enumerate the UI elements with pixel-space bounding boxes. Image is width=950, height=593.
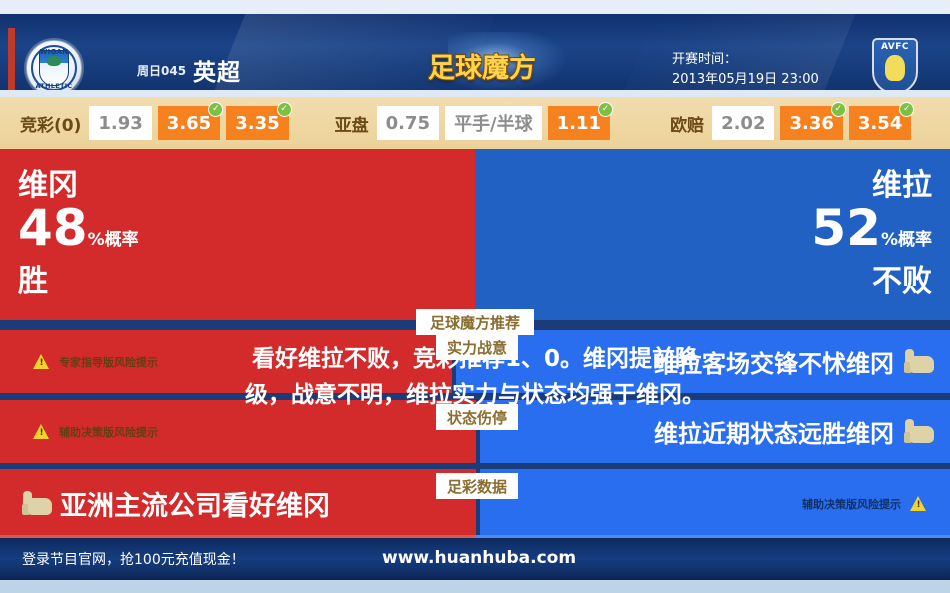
odds-value: 平手/半球 <box>454 110 533 136</box>
analysis-row-ribbon: 足彩数据 <box>436 473 518 499</box>
match-header: WIGAN ATHLETIC 周日045 英超 足球魔方 开赛时间： 2013年… <box>0 14 950 90</box>
odds-value: 3.65 <box>167 113 211 134</box>
odds-group-2: 亚盘0.75平手/半球1.11✓ <box>335 106 616 140</box>
odds-bar: 竞彩(0)1.933.65✓3.35✓亚盘0.75平手/半球1.11✓欧赔2.0… <box>0 97 950 149</box>
thumbs-up-icon <box>904 419 934 445</box>
header-accent-bar <box>8 28 15 90</box>
risk-note-text: 辅助决策版风险提示 <box>59 424 158 440</box>
prediction-panel: 维冈 48%概率 胜 维拉 52%概率 不败 足球魔方推荐 看好维拉不败，竞彩推… <box>0 149 950 320</box>
wigan-athletic-crest: WIGAN ATHLETIC <box>26 40 82 90</box>
odds-cell[interactable]: 1.11✓ <box>548 106 610 140</box>
away-team-name: 维拉 <box>811 169 932 203</box>
away-probability-block: 维拉 52%概率 不败 <box>811 169 932 299</box>
risk-note-text: 专家指导版风险提示 <box>59 354 158 370</box>
odds-value: 3.54 <box>858 113 902 134</box>
kickoff-block: 开赛时间： 2013年05月19日 23:00 <box>672 50 819 90</box>
kickoff-value: 2013年05月19日 23:00 <box>672 70 819 90</box>
risk-note-right: 辅助决策版风险提示! <box>802 469 936 538</box>
odds-group-1: 竞彩(0)1.933.65✓3.35✓ <box>20 106 295 140</box>
odds-value: 3.35 <box>235 113 279 134</box>
away-verdict: 不败 <box>811 265 932 299</box>
lion-icon <box>885 55 905 81</box>
odds-cell[interactable]: 1.93 <box>89 106 151 140</box>
warning-icon: ! <box>33 424 50 439</box>
analysis-row-left: 亚洲主流公司看好维冈 <box>0 469 476 538</box>
warning-icon: ! <box>33 354 50 369</box>
footer-promo: 登录节目官网，抢100元充值现金！ <box>22 549 245 569</box>
odds-value: 2.02 <box>721 113 765 134</box>
odds-cell[interactable]: 平手/半球 <box>445 106 542 140</box>
kickoff-label: 开赛时间： <box>672 50 819 70</box>
check-icon: ✓ <box>277 102 292 117</box>
check-icon: ✓ <box>831 102 846 117</box>
analysis-headline-right-text: 维拉近期状态远胜维冈 <box>654 414 894 449</box>
league-name: 英超 <box>193 53 241 87</box>
analysis-row-ribbon: 状态伤停 <box>436 404 518 430</box>
odds-cell[interactable]: 2.02 <box>712 106 774 140</box>
check-icon: ✓ <box>598 102 613 117</box>
odds-cell[interactable]: 3.36✓ <box>780 106 842 140</box>
odds-group-label: 欧赔 <box>670 111 704 136</box>
home-verdict: 胜 <box>18 265 139 299</box>
away-probability-value: 52 <box>811 199 881 257</box>
brand-text: 足球魔方 <box>418 46 546 85</box>
odds-cell[interactable]: 3.35✓ <box>226 106 288 140</box>
odds-cell[interactable]: 3.54✓ <box>849 106 911 140</box>
home-crest-top-text: WIGAN <box>27 48 81 56</box>
recommendation-ribbon: 足球魔方推荐 <box>416 309 534 335</box>
thumbs-up-icon <box>904 349 934 375</box>
analysis-headline-left-text: 亚洲主流公司看好维冈 <box>60 484 330 523</box>
analysis-row-ribbon: 实力战意 <box>436 334 518 360</box>
home-probability-suffix: %概率 <box>88 230 139 250</box>
footer-bar: 登录节目官网，抢100元充值现金！ www.huanhuba.com <box>0 538 950 580</box>
odds-group-label: 竞彩(0) <box>20 111 81 136</box>
home-team-name: 维冈 <box>18 169 139 203</box>
odds-value: 1.11 <box>557 113 601 134</box>
home-probability-value: 48 <box>18 199 88 257</box>
home-crest-bottom-text: ATHLETIC <box>27 82 81 90</box>
check-icon: ✓ <box>208 102 223 117</box>
odds-groups: 竞彩(0)1.933.65✓3.35✓亚盘0.75平手/半球1.11✓欧赔2.0… <box>0 97 950 149</box>
odds-value: 0.75 <box>386 113 430 134</box>
odds-value: 3.36 <box>789 113 833 134</box>
broadcast-graphic: WIGAN ATHLETIC 周日045 英超 足球魔方 开赛时间： 2013年… <box>0 0 950 593</box>
aston-villa-crest: AVFC <box>872 38 918 90</box>
away-probability-suffix: %概率 <box>881 230 932 250</box>
thumbs-up-icon <box>22 491 52 517</box>
brand-logo: 足球魔方 <box>418 42 546 86</box>
risk-note-left: !专家指导版风险提示 <box>24 330 158 393</box>
odds-group-3: 欧赔2.023.36✓3.54✓ <box>670 106 917 140</box>
risk-note-left: !辅助决策版风险提示 <box>24 400 158 463</box>
away-crest-text: AVFC <box>872 42 918 52</box>
analysis-headline-left: 亚洲主流公司看好维冈 <box>22 469 330 538</box>
odds-cell[interactable]: 0.75 <box>377 106 439 140</box>
warning-icon: ! <box>910 496 927 511</box>
check-icon: ✓ <box>899 102 914 117</box>
odds-group-label: 亚盘 <box>335 111 369 136</box>
footer-website[interactable]: www.huanhuba.com <box>382 548 576 568</box>
match-number: 周日045 <box>137 62 186 79</box>
analysis-row-right: 辅助决策版风险提示! <box>480 469 950 538</box>
home-probability-block: 维冈 48%概率 胜 <box>18 169 139 299</box>
risk-note-text: 辅助决策版风险提示 <box>802 496 901 512</box>
odds-value: 1.93 <box>98 113 142 134</box>
odds-cell[interactable]: 3.65✓ <box>158 106 220 140</box>
